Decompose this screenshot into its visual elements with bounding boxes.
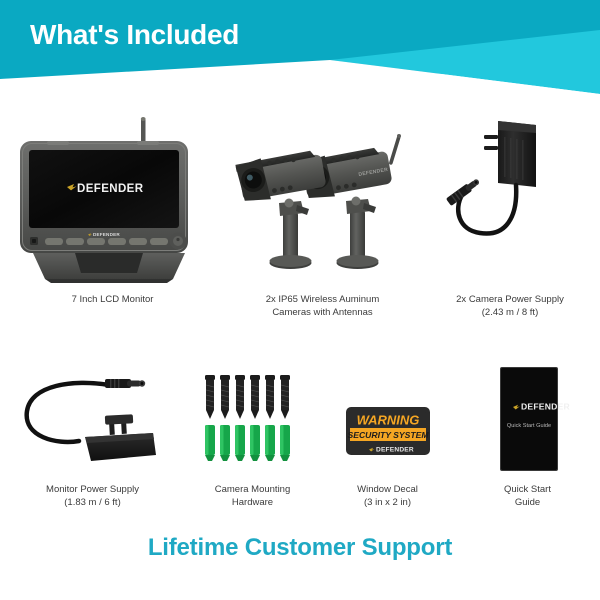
camera-mount-base-top — [336, 255, 378, 267]
svg-text:DEFENDER: DEFENDER — [77, 183, 144, 195]
monitor-power-cable — [26, 383, 108, 442]
window-decal-illustration: WARNING SECURITY SYSTEM DEFENDER — [333, 360, 443, 475]
screws-group — [205, 375, 290, 419]
monitor-illustration: DEFENDER DEFENDER — [15, 110, 210, 285]
mounting-hardware-caption: Camera Mounting Hardware — [215, 483, 291, 509]
monitor-vent-right — [137, 141, 159, 145]
camera-psu-illustration — [440, 110, 580, 285]
quick-start-guide-caption: Quick Start Guide — [504, 483, 551, 509]
header-banner: What's Included — [0, 0, 600, 100]
booklet-defender-logo-icon: DEFENDER — [513, 402, 570, 412]
booklet-title-text: Quick Start Guide — [506, 423, 550, 429]
camera-unit-left — [235, 148, 327, 269]
mounting-hardware-graphic — [194, 363, 312, 475]
cameras-caption: 2x IP65 Wireless Auminum Cameras with An… — [266, 293, 380, 319]
camera-psu-caption: 2x Camera Power Supply (2.43 m / 8 ft) — [456, 293, 564, 319]
monitor-psu-illustration — [13, 360, 173, 475]
camera-psu-graphic — [440, 113, 580, 285]
window-decal-graphic: WARNING SECURITY SYSTEM DEFENDER — [333, 363, 443, 475]
product-item-monitor: DEFENDER DEFENDER — [0, 110, 225, 319]
camera-bracket-joint-2 — [284, 199, 293, 208]
camera-unit-right: DEFENDER — [299, 134, 401, 269]
monitor-psu-graphic — [13, 363, 173, 475]
wall-anchors-group — [205, 425, 290, 461]
monitor-graphic: DEFENDER DEFENDER — [15, 113, 210, 285]
decal-brand-text: DEFENDER — [376, 447, 414, 454]
decal-defender-logo-icon: DEFENDER — [369, 447, 414, 454]
mounting-hardware-illustration — [194, 360, 312, 475]
product-item-camera-power-supply: 2x Camera Power Supply (2.43 m / 8 ft) — [420, 110, 600, 319]
plug-prongs-icon — [484, 135, 498, 150]
product-row-top: DEFENDER DEFENDER — [0, 110, 600, 319]
camera-mount-pole — [350, 209, 365, 261]
camera-mount-pole-2 — [283, 211, 298, 261]
footer-tagline: Lifetime Customer Support — [0, 534, 600, 562]
monitor-power-indicator-inner — [32, 239, 36, 243]
camera-mount-base-top-2 — [269, 255, 311, 267]
camera-antenna-icon — [388, 134, 400, 165]
window-decal-caption: Window Decal (3 in x 2 in) — [357, 483, 418, 509]
product-item-window-decal: WARNING SECURITY SYSTEM DEFENDER Window … — [320, 360, 455, 509]
page-title: What's Included — [30, 19, 239, 51]
monitor-vent-left — [47, 141, 69, 145]
monitor-knob-dot — [176, 238, 179, 241]
monitor-caption: 7 Inch LCD Monitor — [72, 293, 154, 306]
cameras-illustration: DEFENDER — [233, 110, 413, 285]
quick-start-guide-illustration: DEFENDER Quick Start Guide — [473, 360, 583, 475]
product-item-monitor-power-supply: Monitor Power Supply (1.83 m / 6 ft) — [0, 360, 185, 509]
monitor-stand — [33, 253, 185, 283]
product-item-mounting-hardware: Camera Mounting Hardware — [185, 360, 320, 509]
decal-warning-text: WARNING — [356, 413, 419, 428]
bezel-defender-logo-icon: DEFENDER — [88, 232, 120, 237]
svg-text:DEFENDER: DEFENDER — [93, 232, 120, 237]
monitor-psu-caption: Monitor Power Supply (1.83 m / 6 ft) — [46, 483, 139, 509]
camera-bracket-joint — [351, 197, 360, 206]
product-item-cameras: DEFENDER — [225, 110, 420, 319]
monitor-plug-prongs-icon — [104, 414, 132, 435]
product-row-bottom: Monitor Power Supply (1.83 m / 6 ft) — [0, 360, 600, 509]
quick-start-guide-graphic: DEFENDER Quick Start Guide — [473, 363, 583, 475]
monitor-barrel-connector — [105, 379, 145, 388]
booklet-cover — [501, 368, 557, 470]
product-item-quick-start-guide: DEFENDER Quick Start Guide Quick Start G… — [455, 360, 600, 509]
decal-system-text: SECURITY SYSTEM — [347, 430, 429, 440]
screen-defender-logo-icon: DEFENDER — [67, 183, 144, 195]
cameras-graphic: DEFENDER — [233, 113, 413, 285]
barrel-connector — [446, 177, 481, 206]
booklet-brand-text: DEFENDER — [521, 402, 570, 412]
